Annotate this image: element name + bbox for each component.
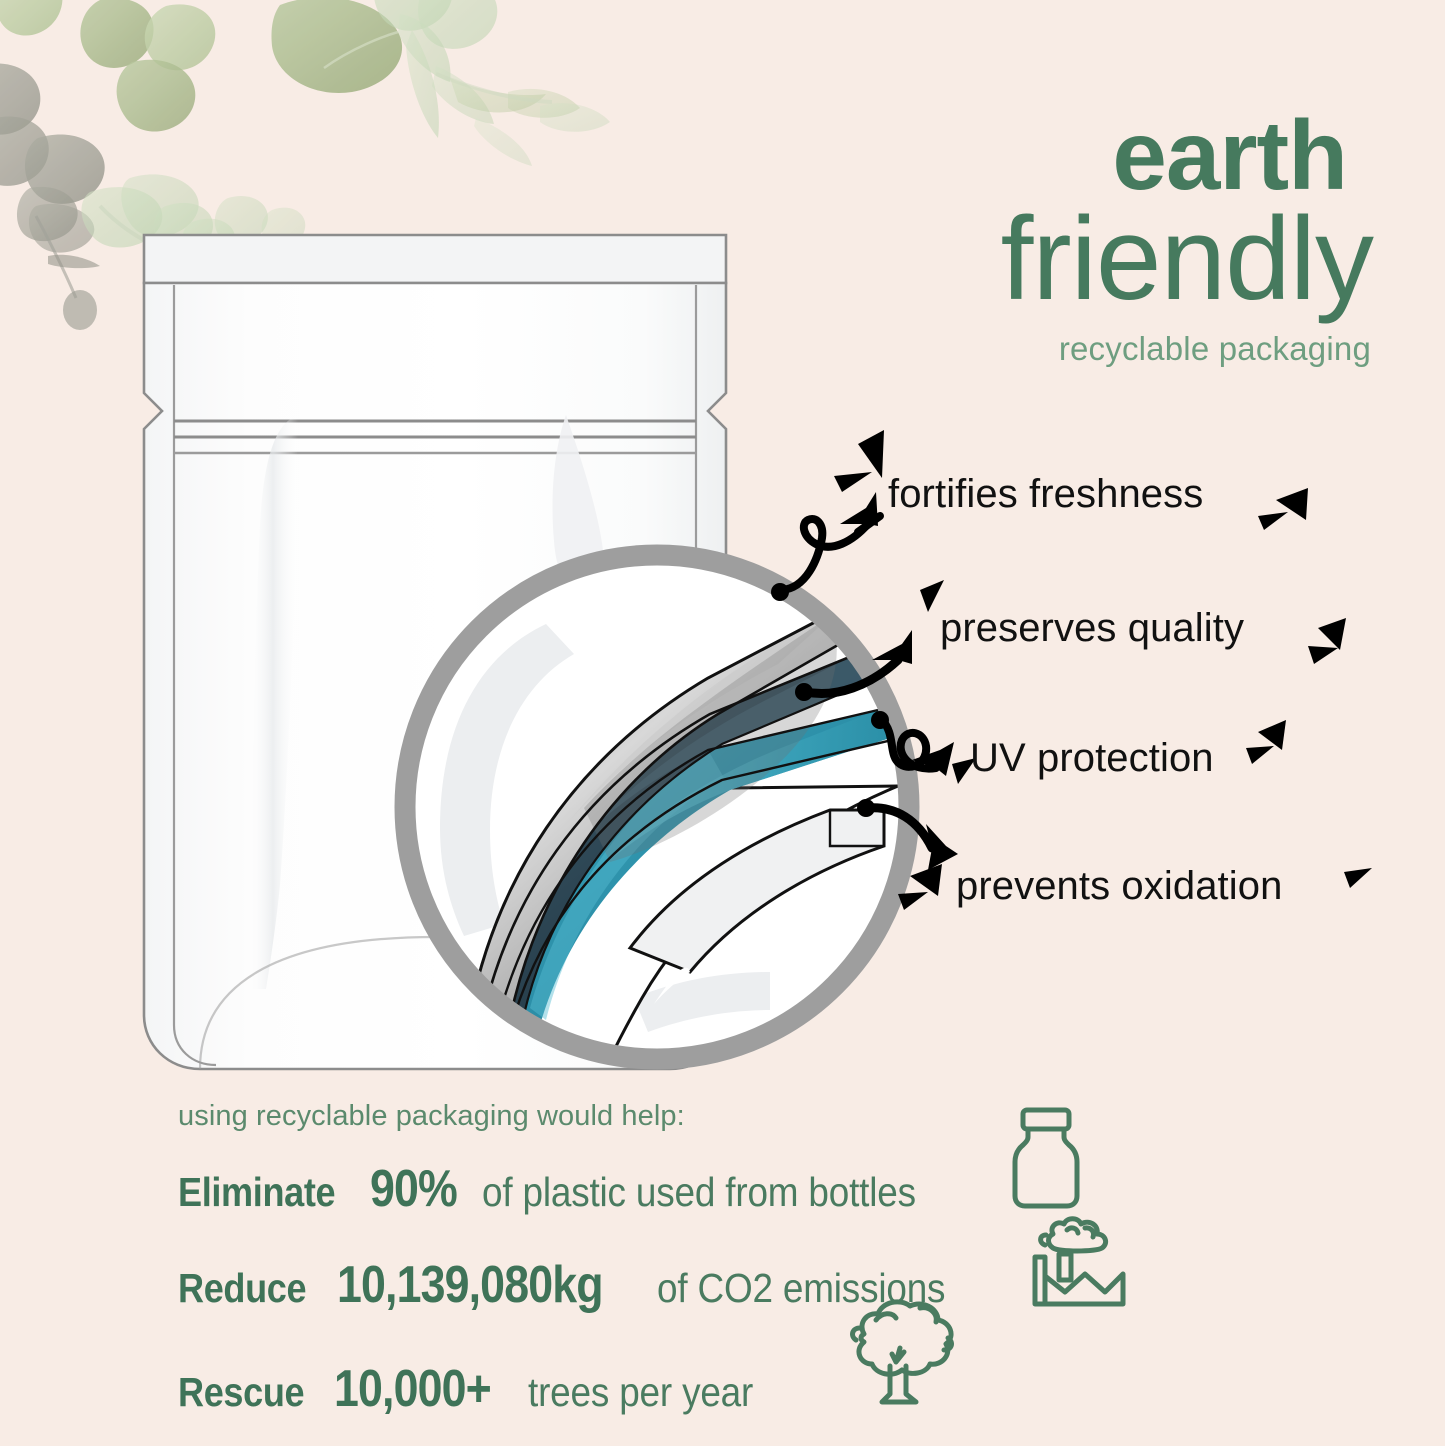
stats-intro: using recyclable packaging would help: bbox=[178, 1100, 1338, 1133]
sparkle-icon bbox=[834, 472, 872, 492]
arrow-anchor-dot-2 bbox=[795, 683, 813, 701]
sparkle-icon bbox=[910, 864, 942, 896]
headline-line-1: earth bbox=[835, 108, 1375, 202]
sparkle-icon bbox=[1258, 512, 1288, 530]
sparkle-icon bbox=[898, 892, 928, 910]
stat-row-eliminate-plastic: Eliminate 90% of plastic used from bottl… bbox=[178, 1159, 1338, 1219]
bottle-icon bbox=[998, 1104, 1094, 1212]
arrow-anchor-dot-1 bbox=[771, 583, 789, 601]
curved-arrow-4 bbox=[868, 808, 932, 848]
stat-number: 10,139,080kg bbox=[337, 1255, 603, 1315]
stat-verb: Eliminate bbox=[178, 1169, 335, 1216]
feature-label-uv-protection: UV protection bbox=[970, 736, 1214, 781]
feature-label-fortifies-freshness: fortifies freshness bbox=[888, 472, 1203, 517]
sparkle-icon bbox=[1308, 646, 1338, 664]
stat-verb: Reduce bbox=[178, 1265, 306, 1312]
factory-icon bbox=[1023, 1214, 1133, 1314]
stat-tail: of plastic used from bottles bbox=[482, 1169, 916, 1216]
tree-icon bbox=[830, 1290, 962, 1414]
arrow-anchor-dot-4 bbox=[857, 799, 875, 817]
headline-subtitle: recyclable packaging bbox=[835, 332, 1375, 365]
feature-callouts: fortifies freshness preserves quality UV… bbox=[760, 420, 1420, 940]
infographic-canvas: earth friendly recyclable packaging bbox=[0, 0, 1445, 1446]
stat-row-reduce-co2: Reduce 10,139,080kg of CO2 emissions bbox=[178, 1255, 1338, 1315]
stat-tail: trees per year bbox=[528, 1369, 753, 1416]
sparkle-icon bbox=[1246, 746, 1274, 764]
sparkle-icon bbox=[1318, 618, 1346, 650]
feature-label-prevents-oxidation: prevents oxidation bbox=[956, 864, 1282, 909]
stat-verb: Rescue bbox=[178, 1369, 304, 1416]
headline-block: earth friendly recyclable packaging bbox=[835, 108, 1375, 365]
sparkle-icon bbox=[858, 430, 884, 478]
headline-line-2: friendly bbox=[835, 202, 1375, 318]
arrow-anchor-dot-3 bbox=[871, 711, 889, 729]
stats-block: using recyclable packaging would help: E… bbox=[178, 1100, 1338, 1446]
sparkle-icon bbox=[1258, 720, 1286, 750]
feature-label-preserves-quality: preserves quality bbox=[940, 606, 1244, 651]
curved-arrow-2 bbox=[806, 660, 898, 694]
sparkle-icon bbox=[1344, 868, 1372, 888]
stat-row-rescue-trees: Rescue 10,000+ trees per year bbox=[178, 1359, 1338, 1419]
stat-number: 90% bbox=[370, 1159, 457, 1219]
stat-number: 10,000+ bbox=[334, 1359, 491, 1419]
